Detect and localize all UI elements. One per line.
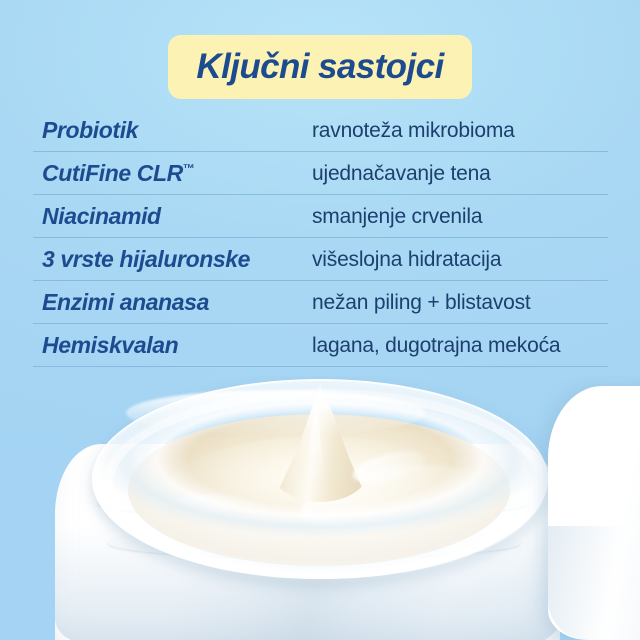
ingredient-benefit: višeslojna hidratacija	[312, 248, 622, 272]
trademark-symbol: ™	[183, 161, 195, 175]
jar-rim-highlight	[126, 390, 426, 436]
row-divider	[33, 366, 608, 367]
ingredient-benefit: ravnoteža mikrobioma	[312, 119, 622, 143]
ingredient-benefit: smanjenje crvenila	[312, 205, 622, 229]
title-badge: Ključni sastojci	[168, 35, 472, 99]
ingredient-name: Hemiskvalan	[42, 332, 310, 359]
ingredient-name-text: CutiFine CLR	[42, 160, 183, 186]
jar-lid-shading	[548, 526, 638, 640]
page-title: Ključni sastojci	[196, 49, 443, 84]
product-image	[0, 376, 640, 640]
ingredient-name: 3 vrste hijaluronske	[42, 246, 310, 273]
ingredient-benefit: lagana, dugotrajna mekoća	[312, 334, 622, 358]
table-row: Probiotik ravnoteža mikrobioma	[0, 109, 640, 152]
promo-graphic: Ključni sastojci Probiotik ravnoteža mik…	[0, 0, 640, 640]
ingredient-benefit: nežan piling + blistavost	[312, 291, 622, 315]
ingredients-table: Probiotik ravnoteža mikrobioma CutiFine …	[0, 109, 640, 367]
ingredient-name: Probiotik	[42, 117, 310, 144]
table-row: 3 vrste hijaluronske višeslojna hidratac…	[0, 238, 640, 281]
ingredient-benefit: ujednačavanje tena	[312, 162, 622, 186]
table-row: Niacinamid smanjenje crvenila	[0, 195, 640, 238]
ingredient-name: Enzimi ananasa	[42, 289, 310, 316]
ingredient-name: Niacinamid	[42, 203, 310, 230]
table-row: Hemiskvalan lagana, dugotrajna mekoća	[0, 324, 640, 367]
table-row: Enzimi ananasa nežan piling + blistavost	[0, 281, 640, 324]
table-row: CutiFine CLR™ ujednačavanje tena	[0, 152, 640, 195]
ingredient-name: CutiFine CLR™	[42, 160, 310, 187]
